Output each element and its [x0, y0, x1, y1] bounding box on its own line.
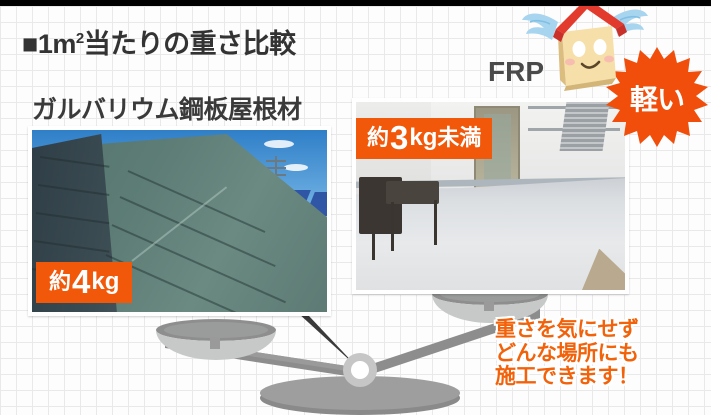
badge-left-prefix: 約 [49, 271, 71, 293]
caption-line-2: どんな場所にも [495, 342, 639, 366]
badge-left-number: 4 [72, 265, 90, 298]
title-superscript: 2 [76, 30, 84, 47]
badge-left-unit: kg [91, 270, 119, 294]
weight-badge-galvalume: 約4kg [36, 262, 132, 303]
badge-right-number: 3 [390, 121, 408, 154]
page-title: ■1m2当たりの重さ比較 [22, 22, 296, 61]
title-marker: ■ [22, 29, 38, 59]
title-prefix: 1m [38, 29, 76, 59]
left-material-label: ガルバリウム鋼板屋根材 [32, 90, 302, 126]
badge-right-suffix: 未満 [437, 127, 481, 149]
caption-line-3: 施工できます！ [495, 365, 639, 389]
title-suffix: 当たりの重さ比較 [84, 29, 296, 59]
bottom-caption: 重さを気にせず どんな場所にも 施工できます！ [495, 318, 639, 389]
top-black-bar [0, 0, 711, 6]
badge-right-prefix: 約 [367, 127, 389, 149]
flying-house-mascot-icon [520, 0, 650, 92]
mascot-wing-left-icon [522, 14, 558, 41]
infographic-canvas: ■1m2当たりの重さ比較 ガルバリウム鋼板屋根材 FRP 約4kg 約3kg未満 [0, 0, 711, 415]
weight-badge-frp: 約3kg未満 [356, 118, 492, 159]
caption-line-1: 重さを気にせず [495, 318, 639, 342]
badge-right-unit: kg [409, 126, 437, 150]
